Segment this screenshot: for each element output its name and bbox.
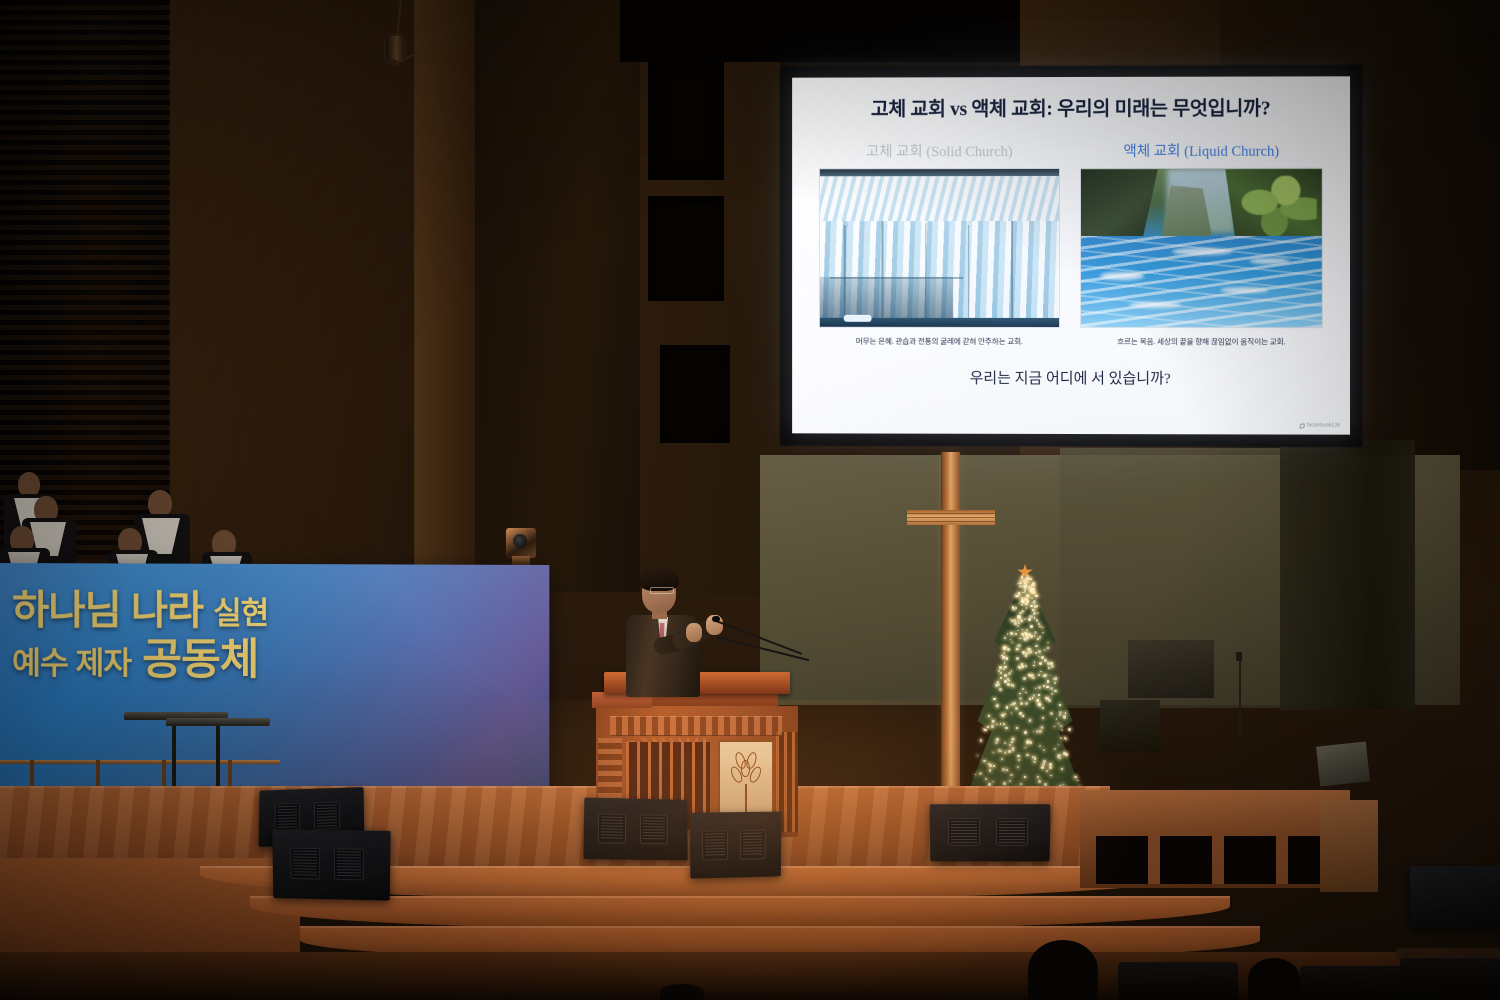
- column-solid-church: 고체 교회 (Solid Church): [818, 140, 1061, 347]
- projection-screen-frame: 고체 교회 vs 액체 교회: 우리의 미래는 무엇입니까? 고체 교회 (So…: [780, 65, 1362, 447]
- audience-head: [1028, 940, 1098, 1000]
- presenter-hand: [686, 623, 702, 642]
- camera-lens-icon: [513, 534, 527, 548]
- stage-equipment: [1128, 640, 1214, 698]
- sanctuary-scene: 고체 교회 vs 액체 교회: 우리의 미래는 무엇입니까? 고체 교회 (So…: [0, 0, 1500, 1000]
- ceiling-shadow: [620, 0, 1020, 62]
- banner-text: 하나님 나라 실현 예수 제자 공동체: [12, 589, 344, 683]
- stage-monitor: [1410, 866, 1500, 928]
- eyeglasses-icon: [650, 587, 674, 594]
- glacier-image: [819, 168, 1060, 328]
- notebooklm-logo-icon: [1300, 423, 1305, 428]
- banner-line2-small: 예수 제자: [12, 646, 131, 681]
- presenter: [620, 565, 740, 695]
- presentation-slide: 고체 교회 vs 액체 교회: 우리의 미래는 무엇입니까? 고체 교회 (So…: [792, 76, 1350, 434]
- column-heading-liquid: 액체 교회 (Liquid Church): [1123, 140, 1279, 161]
- platform-vents: [1096, 836, 1336, 884]
- caption-liquid: 흐르는 복음. 세상의 끝을 향해 끊임없이 움직이는 교회.: [1117, 336, 1285, 347]
- storage-cabinet: [1320, 800, 1378, 892]
- slide-title: 고체 교회 vs 액체 교회: 우리의 미래는 무엇입니까?: [810, 98, 1332, 120]
- river-image: [1080, 168, 1323, 329]
- banner-line1-small: 실현: [213, 596, 268, 631]
- banner-line1-strong: 하나님 나라: [12, 588, 203, 633]
- microphone-stand: [1239, 660, 1241, 738]
- stage-equipment: [1100, 700, 1160, 752]
- auditorium-seat: [1118, 962, 1238, 1000]
- wall-panel-4: [475, 0, 640, 592]
- slide-footer-question: 우리는 지금 어디에 서 있습니까?: [810, 367, 1332, 389]
- notebooklm-watermark: NotebookLM: [1300, 423, 1340, 429]
- stage-monitor: [930, 804, 1051, 861]
- wheat-sheaf-icon: [730, 752, 762, 818]
- audience-head: [1248, 958, 1300, 1000]
- stage-monitor: [272, 829, 390, 900]
- audience-head: [660, 984, 704, 1000]
- wall-panel-3: [415, 0, 475, 590]
- column-liquid-church: 액체 교회 (Liquid Church): [1079, 140, 1324, 348]
- auditorium-seat: [1300, 966, 1410, 1000]
- stage-monitor: [690, 812, 782, 879]
- choir-members: [0, 468, 248, 578]
- slide-columns: 고체 교회 (Solid Church): [810, 140, 1332, 348]
- column-heading-solid: 고체 교회 (Solid Church): [866, 141, 1013, 162]
- microphone-capsule: [712, 616, 720, 622]
- ptz-camera: [506, 528, 536, 558]
- projection-screen: 고체 교회 vs 액체 교회: 우리의 미래는 무엇입니까? 고체 교회 (So…: [792, 76, 1350, 434]
- wall-dark-column: [1280, 440, 1415, 710]
- stage-monitor: [583, 798, 687, 861]
- music-stand: [1316, 741, 1370, 786]
- wall-niche-3: [660, 345, 730, 443]
- microphone-head: [1236, 652, 1242, 661]
- pulpit-carving: [610, 716, 782, 736]
- wall-niche-1: [648, 62, 724, 180]
- caption-solid: 머무는 은혜. 관습과 전통의 굴레에 갇혀 안주하는 교회.: [856, 336, 1023, 347]
- wall-niche-2: [648, 196, 724, 301]
- banner-line2-strong: 공동체: [142, 636, 258, 684]
- auditorium-seat: [1400, 958, 1500, 1000]
- watermark-label: NotebookLM: [1307, 423, 1340, 429]
